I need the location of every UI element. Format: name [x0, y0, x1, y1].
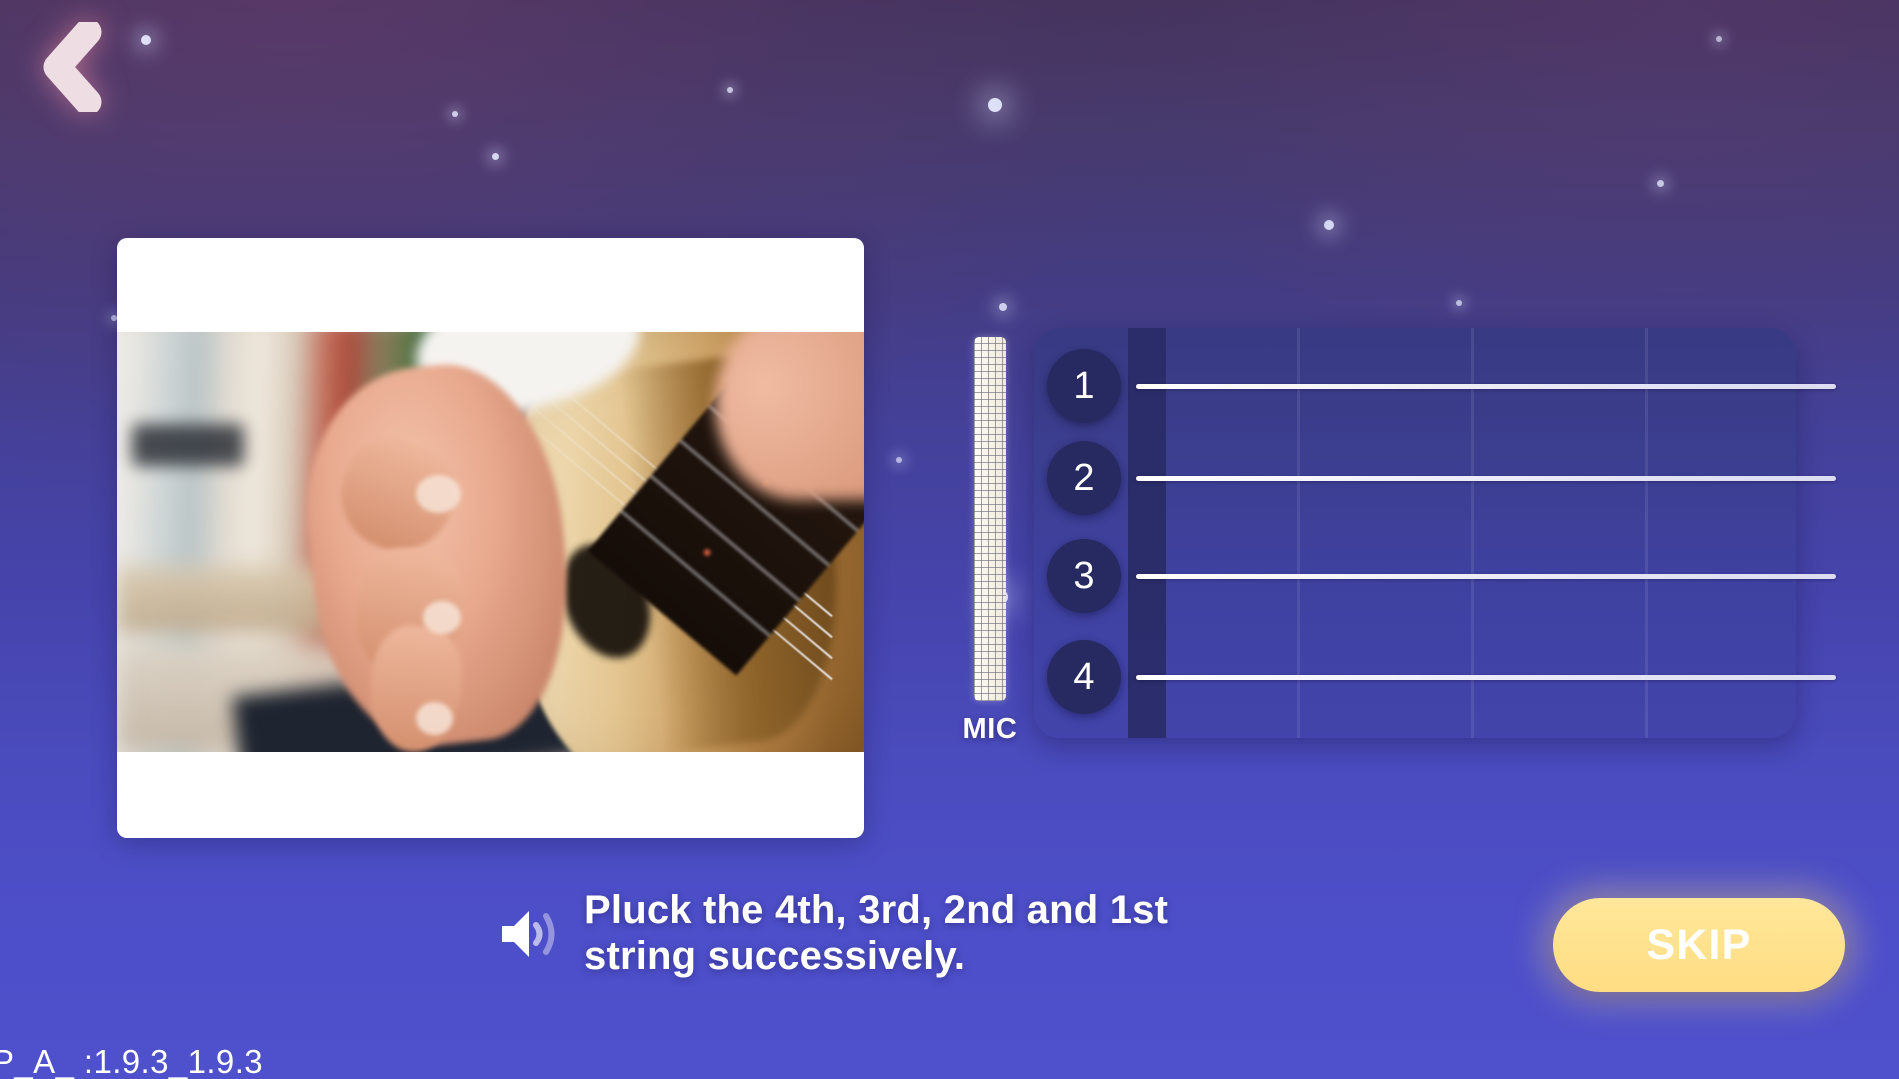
fingernail — [423, 601, 460, 635]
string-badge-2[interactable]: 2 — [1047, 441, 1121, 515]
mic-label: MIC — [935, 713, 1045, 746]
string-line — [1136, 384, 1836, 389]
video-card[interactable] — [117, 238, 864, 838]
app-root: MIC 1 2 3 4 Pluck the 4th — [0, 0, 1899, 1079]
instruction-bar: Pluck the 4th, 3rd, 2nd and 1st string s… — [498, 888, 1298, 979]
fingernail — [416, 475, 461, 513]
skip-button[interactable]: SKIP — [1553, 898, 1845, 992]
string-badge-1[interactable]: 1 — [1047, 349, 1121, 423]
star — [999, 303, 1007, 311]
speaker-icon[interactable] — [498, 905, 558, 963]
star — [727, 87, 733, 93]
back-button[interactable] — [40, 22, 110, 112]
star — [988, 98, 1002, 112]
mic-meter: MIC — [935, 337, 1045, 746]
string-line — [1136, 574, 1836, 579]
instruction-line-1: Pluck the 4th, 3rd, 2nd and 1st — [584, 888, 1168, 934]
string-line — [1136, 675, 1836, 680]
star — [1456, 300, 1462, 306]
video-frame — [117, 332, 864, 752]
star — [141, 35, 151, 45]
skip-button-label: SKIP — [1646, 921, 1751, 970]
instruction-text: Pluck the 4th, 3rd, 2nd and 1st string s… — [584, 888, 1168, 979]
star — [896, 457, 902, 463]
star — [492, 153, 499, 160]
mic-level-bar — [974, 337, 1006, 701]
star — [1657, 180, 1664, 187]
fingernail — [416, 702, 453, 736]
version-text: P_A_ :1.9.3_1.9.3 — [0, 1043, 263, 1079]
string-panel[interactable]: 1 2 3 4 — [1034, 328, 1796, 738]
instruction-line-2: string successively. — [584, 934, 1168, 980]
string-badge-4[interactable]: 4 — [1047, 640, 1121, 714]
back-chevron-icon — [40, 22, 110, 112]
video-shelf-object — [132, 424, 244, 466]
string-line — [1136, 476, 1836, 481]
string-badge-3[interactable]: 3 — [1047, 539, 1121, 613]
star — [1324, 220, 1334, 230]
star — [452, 111, 458, 117]
star — [1716, 36, 1722, 42]
